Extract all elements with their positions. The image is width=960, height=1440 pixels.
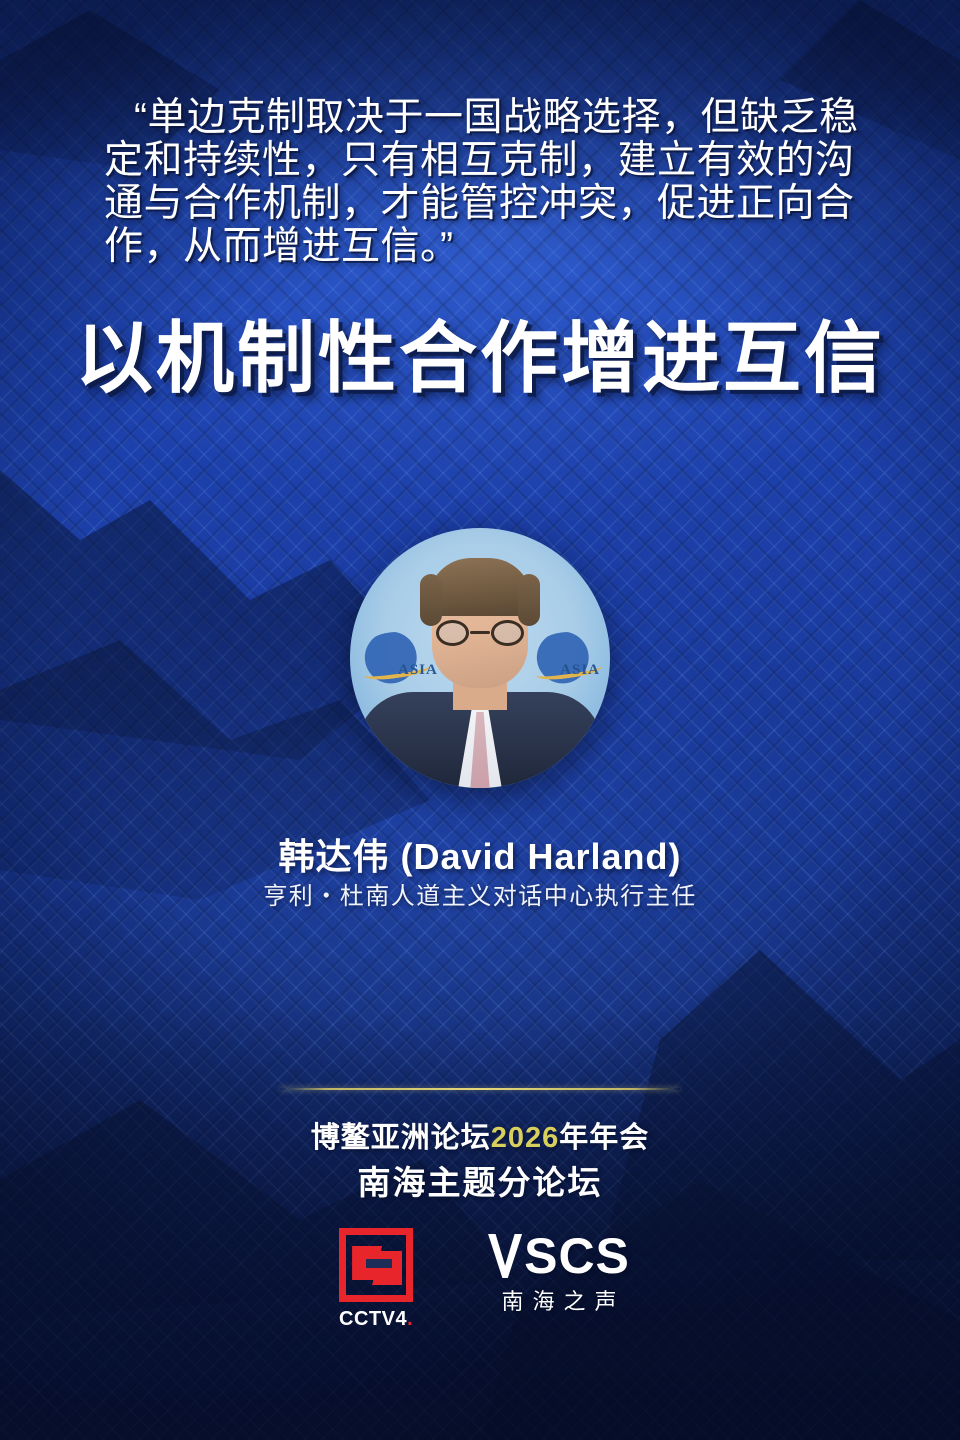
vscs-letters: SCS <box>524 1230 630 1282</box>
forum-subtitle: 南海主题分论坛 <box>0 1156 960 1204</box>
forum-year: 2026 <box>491 1122 560 1154</box>
cctv4-wordmark: CCTV4. <box>330 1308 422 1331</box>
cctv4-mark-icon <box>339 1228 413 1302</box>
vscs-logo: SCS 南海之声 <box>488 1228 630 1316</box>
portrait-hair <box>428 558 532 616</box>
boao-globe-icon-left <box>358 632 436 690</box>
cctv4-dot: . <box>407 1308 413 1330</box>
portrait-image: ASIA ASIA <box>350 528 610 788</box>
speaker-name: 韩达伟 (David Harland) <box>0 828 960 880</box>
forum-name-line: 博鳌亚洲论坛2026年年会 <box>0 1114 960 1156</box>
vscs-subtitle: 南海之声 <box>488 1284 630 1316</box>
gold-divider <box>280 1088 680 1090</box>
cctv4-logo: CCTV4. <box>330 1228 422 1331</box>
backdrop-logo-left: ASIA <box>398 662 438 679</box>
quote-text: “单边克制取决于一国战略选择，但缺乏稳定和持续性，只有相互克制，建立有效的沟通与… <box>104 96 864 268</box>
portrait-glasses-icon <box>434 620 526 646</box>
boao-globe-icon-right <box>530 632 608 690</box>
backdrop-logo-right: ASIA <box>560 662 600 679</box>
forum-name-suffix: 年年会 <box>559 1122 649 1154</box>
vscs-wordmark: SCS <box>488 1230 630 1282</box>
headline-title: 以机制性合作增进互信 <box>0 316 960 400</box>
forum-name-prefix: 博鳌亚洲论坛 <box>311 1122 491 1154</box>
speaker-role: 亨利・杜南人道主义对话中心执行主任 <box>0 876 960 911</box>
poster-root: “单边克制取决于一国战略选择，但缺乏稳定和持续性，只有相互克制，建立有效的沟通与… <box>0 0 960 1440</box>
cctv4-label: CCTV4 <box>339 1308 407 1330</box>
vscs-v-icon <box>488 1234 522 1278</box>
speaker-portrait: ASIA ASIA <box>350 528 610 788</box>
poster-content: “单边克制取决于一国战略选择，但缺乏稳定和持续性，只有相互克制，建立有效的沟通与… <box>0 0 960 1440</box>
logo-row: CCTV4. SCS 南海之声 <box>0 1228 960 1331</box>
